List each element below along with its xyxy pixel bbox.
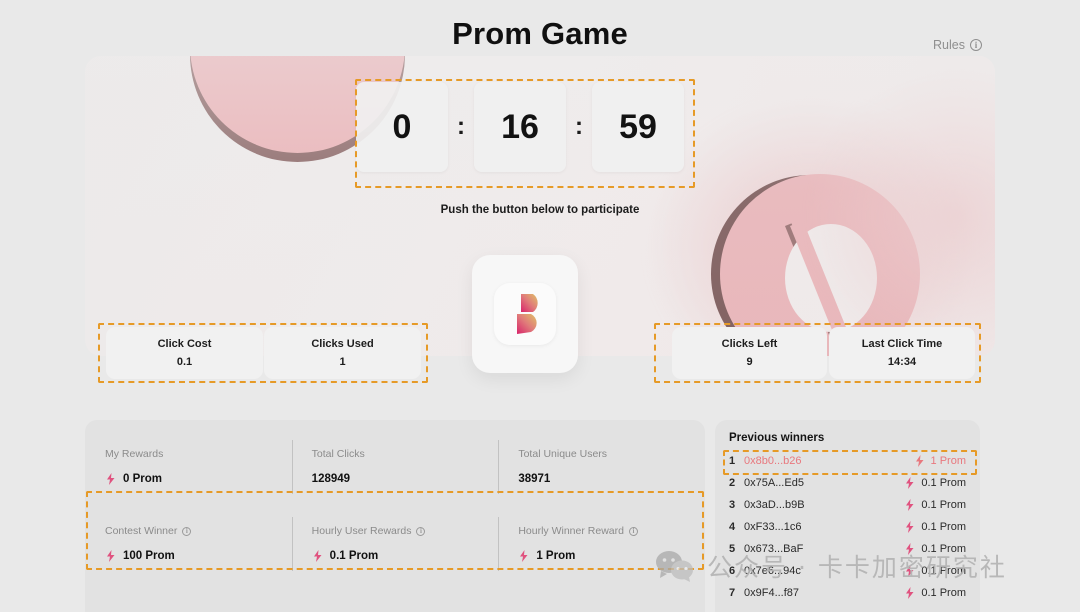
info-circle-icon: i <box>970 39 982 51</box>
winner-rank: 1 <box>729 455 744 467</box>
stat-value: 9 <box>746 356 752 368</box>
stat-contest-winner: Contest Winner i 100 Prom <box>85 525 292 562</box>
prom-token-icon <box>904 587 915 599</box>
prom-token-icon <box>904 521 915 533</box>
winner-amount: 1 Prom <box>931 455 966 467</box>
stat-value-wrap: 100 Prom <box>105 550 292 562</box>
stat-label: Clicks Left <box>722 338 778 350</box>
winner-address: 0x8b0...b26 <box>744 455 914 467</box>
winner-rank: 4 <box>729 521 744 533</box>
previous-winners-panel: Previous winners 10x8b0...b261 Prom20x75… <box>715 420 980 612</box>
stat-value: 1 Prom <box>536 550 575 562</box>
winner-row[interactable]: 30x3aD...b9B0.1 Prom <box>729 494 966 516</box>
info-circle-icon[interactable]: i <box>629 527 638 536</box>
winner-amount-wrap: 0.1 Prom <box>904 477 966 489</box>
winner-amount-wrap: 0.1 Prom <box>904 521 966 533</box>
stats-row-secondary: Contest Winner i 100 Prom Hourly User Re… <box>85 525 705 562</box>
stat-label: Last Click Time <box>862 338 943 350</box>
click-button[interactable] <box>472 255 578 373</box>
countdown-seconds: 59 <box>592 82 684 172</box>
stat-value: 0.1 <box>177 356 192 368</box>
countdown-separator-1: : <box>448 113 474 141</box>
stat-total-clicks: Total Clicks 128949 <box>292 448 499 485</box>
winner-address: 0x9F4...f87 <box>744 587 904 599</box>
winner-amount: 0.1 Prom <box>921 477 966 489</box>
winner-rank: 5 <box>729 543 744 555</box>
stat-my-rewards: My Rewards 0 Prom <box>85 448 292 485</box>
info-circle-icon[interactable]: i <box>416 527 425 536</box>
stats-row-primary: My Rewards 0 Prom Total Clicks 128949 To… <box>85 448 705 485</box>
winner-row[interactable]: 20x75A...Ed50.1 Prom <box>729 472 966 494</box>
prom-token-icon <box>904 499 915 511</box>
stat-label: Clicks Used <box>311 338 373 350</box>
stat-label-wrap: Contest Winner i <box>105 525 292 537</box>
winner-row[interactable]: 70x9F4...f870.1 Prom <box>729 582 966 604</box>
prom-token-icon <box>904 565 915 577</box>
prom-token-icon <box>518 550 529 562</box>
stat-value: 38971 <box>518 473 705 485</box>
stat-card-clicks-left: Clicks Left 9 <box>672 327 827 379</box>
prom-token-icon <box>105 550 116 562</box>
stat-label-wrap: Hourly User Rewards i <box>312 525 499 537</box>
prom-token-icon <box>312 550 323 562</box>
winner-amount-wrap: 0.1 Prom <box>904 499 966 511</box>
stat-label: Hourly Winner Reward <box>518 525 624 537</box>
info-circle-icon[interactable]: i <box>182 527 191 536</box>
winner-amount: 0.1 Prom <box>921 543 966 555</box>
winner-amount-wrap: 0.1 Prom <box>904 543 966 555</box>
countdown-separator-2: : <box>566 113 592 141</box>
stat-total-unique-users: Total Unique Users 38971 <box>498 448 705 485</box>
winner-address: 0x3aD...b9B <box>744 499 904 511</box>
stat-value: 0.1 Prom <box>330 550 379 562</box>
winner-amount: 0.1 Prom <box>921 521 966 533</box>
participate-hint: Push the button below to participate <box>0 204 1080 216</box>
stat-value: 128949 <box>312 473 499 485</box>
stat-value: 1 <box>339 356 345 368</box>
prom-token-icon <box>914 455 925 467</box>
winner-row[interactable]: 40xF33...1c60.1 Prom <box>729 516 966 538</box>
winner-amount-wrap: 0.1 Prom <box>904 587 966 599</box>
stat-value: 100 Prom <box>123 550 175 562</box>
stat-card-click-cost: Click Cost 0.1 <box>106 327 263 379</box>
app-root: Prom Game Rules i 0 : 16 : 59 Push the b… <box>0 0 1080 612</box>
previous-winners-list: 10x8b0...b261 Prom20x75A...Ed50.1 Prom30… <box>729 450 966 604</box>
countdown-timer: 0 : 16 : 59 <box>356 82 684 172</box>
stats-panel: My Rewards 0 Prom Total Clicks 128949 To… <box>85 420 705 612</box>
winner-row[interactable]: 50x673...BaF0.1 Prom <box>729 538 966 560</box>
winner-rank: 6 <box>729 565 744 577</box>
prom-token-icon <box>904 477 915 489</box>
prom-token-icon <box>904 543 915 555</box>
stat-value-wrap: 0 Prom <box>105 473 292 485</box>
winner-amount: 0.1 Prom <box>921 565 966 577</box>
stat-card-last-click-time: Last Click Time 14:34 <box>829 327 975 379</box>
stat-label-wrap: Hourly Winner Reward i <box>518 525 705 537</box>
winner-address: 0xF33...1c6 <box>744 521 904 533</box>
countdown-hours: 0 <box>356 82 448 172</box>
prom-token-icon <box>105 473 116 485</box>
stat-label: Click Cost <box>158 338 212 350</box>
stat-label: Total Clicks <box>312 448 499 460</box>
stat-label: Contest Winner <box>105 525 177 537</box>
winner-rank: 3 <box>729 499 744 511</box>
stat-hourly-winner-reward: Hourly Winner Reward i 1 Prom <box>498 525 705 562</box>
rules-link[interactable]: Rules i <box>933 38 982 52</box>
previous-winners-title: Previous winners <box>729 432 966 444</box>
winner-amount: 0.1 Prom <box>921 499 966 511</box>
rules-label: Rules <box>933 38 965 52</box>
stat-value-wrap: 1 Prom <box>518 550 705 562</box>
winner-address: 0x75A...Ed5 <box>744 477 904 489</box>
countdown-minutes: 16 <box>474 82 566 172</box>
stat-card-clicks-used: Clicks Used 1 <box>264 327 421 379</box>
winner-row[interactable]: 60x7e6...94c0.1 Prom <box>729 560 966 582</box>
winner-amount: 0.1 Prom <box>921 587 966 599</box>
stat-value-wrap: 0.1 Prom <box>312 550 499 562</box>
winner-address: 0x7e6...94c <box>744 565 904 577</box>
stat-hourly-user-rewards: Hourly User Rewards i 0.1 Prom <box>292 525 499 562</box>
winner-address: 0x673...BaF <box>744 543 904 555</box>
winner-rank: 7 <box>729 587 744 599</box>
stat-value: 14:34 <box>888 356 916 368</box>
winner-row[interactable]: 10x8b0...b261 Prom <box>729 450 966 472</box>
winner-amount-wrap: 1 Prom <box>914 455 966 467</box>
stat-label: Hourly User Rewards <box>312 525 412 537</box>
winner-amount-wrap: 0.1 Prom <box>904 565 966 577</box>
page-title: Prom Game <box>0 16 1080 52</box>
stat-label: My Rewards <box>105 448 292 460</box>
stat-value: 0 Prom <box>123 473 162 485</box>
stat-label: Total Unique Users <box>518 448 705 460</box>
winner-rank: 2 <box>729 477 744 489</box>
prom-logo-icon <box>494 283 556 345</box>
